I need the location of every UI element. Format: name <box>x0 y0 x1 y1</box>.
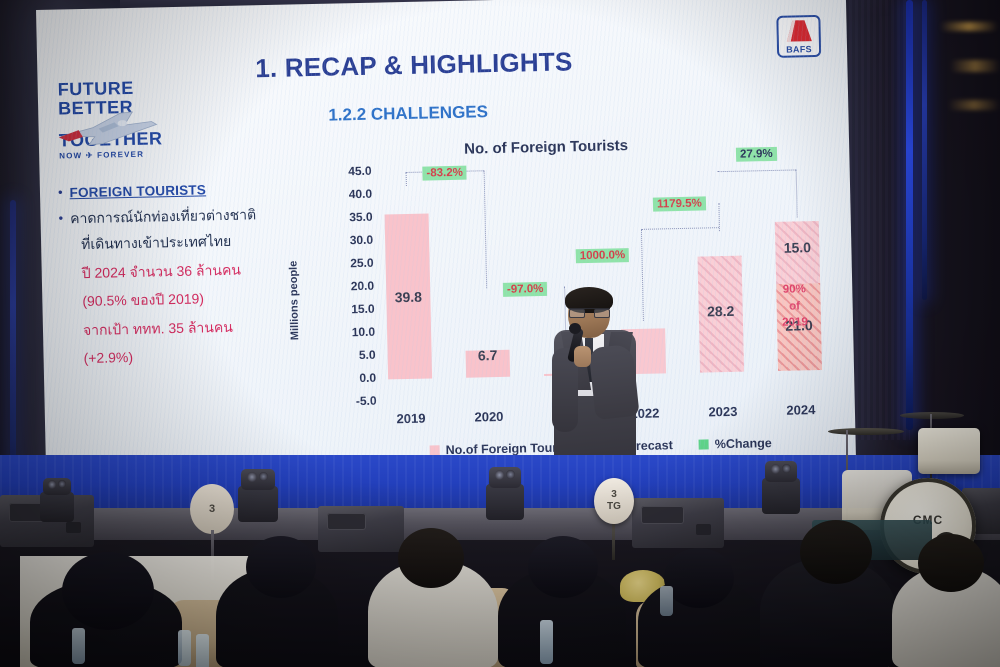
annotation-90-percent: 90% of 2019 <box>772 281 817 332</box>
projection-screen: FUTURE BETTER TOGETHER NOW ✈ FOREVER BAF… <box>36 0 856 478</box>
page-subtitle: 1.2.2 CHALLENGES <box>328 102 488 125</box>
legend-item-pct-change: %Change <box>699 436 772 452</box>
y-tick: 25.0 <box>350 256 374 271</box>
presenter-arm-right <box>588 344 639 420</box>
brand-lockup: FUTURE BETTER TOGETHER NOW ✈ FOREVER <box>58 79 180 154</box>
audience-member-head <box>800 520 872 584</box>
light-head <box>43 478 72 495</box>
presenter-hand <box>574 346 591 367</box>
light-lens-icon <box>771 464 781 474</box>
stage-number-sign: 3 TG <box>594 478 634 524</box>
page-title: 1. RECAP & HIGHLIGHTS <box>255 46 573 84</box>
stage-sign-number: 3 <box>611 489 617 502</box>
glasses-lens-right <box>594 309 610 318</box>
water-bottle <box>660 586 673 616</box>
bullet-heading: FOREIGN TOURISTS <box>69 182 206 200</box>
x-tick-2019: 2019 <box>396 411 425 427</box>
amber-light-glow <box>940 22 998 31</box>
light-head <box>489 467 521 487</box>
bar-group-2023: 28.2 2023 <box>696 186 745 394</box>
x-tick-2024: 2024 <box>786 402 815 418</box>
legend-label-pct-change: %Change <box>715 436 772 451</box>
connector-line <box>406 172 407 186</box>
light-lens-icon <box>48 480 57 489</box>
y-tick: 40.0 <box>349 187 373 202</box>
bullet-dot-icon: • <box>58 211 63 225</box>
x-tick-2023: 2023 <box>708 404 737 420</box>
red-line-2: (90.5% ของปี 2019) <box>82 289 312 309</box>
y-tick: 35.0 <box>349 210 373 225</box>
water-bottle <box>72 628 85 664</box>
chart-title: No. of Foreign Tourists <box>299 134 793 162</box>
light-head <box>765 461 797 481</box>
list-item: • คาดการณ์นักท่องเที่ยวต่างชาติ <box>58 206 310 227</box>
legend-swatch-icon <box>430 445 440 455</box>
audience-member-head <box>246 536 316 598</box>
bar-group-2019: 39.8 2019 <box>384 192 433 400</box>
stage-monitor-speaker <box>318 506 404 552</box>
bar-value-2020: 6.7 <box>478 347 498 363</box>
water-bottle <box>540 620 553 664</box>
light-lens-icon <box>259 472 268 481</box>
bullet-dot-icon: • <box>58 185 63 199</box>
red-line-1: ปี 2024 จำนวน 36 ล้านคน <box>82 261 312 281</box>
airplane-icon <box>52 104 161 150</box>
bafs-logo: BAFS <box>776 15 821 58</box>
amber-light-glow <box>950 60 1000 72</box>
bar-value-2024-upper: 15.0 <box>784 239 812 256</box>
y-tick: 30.0 <box>350 233 374 248</box>
stage-monitor-speaker <box>632 498 724 548</box>
audience-member-head <box>918 534 984 592</box>
moving-head-light <box>762 478 800 514</box>
y-tick: -5.0 <box>356 394 377 408</box>
bullet-thai-text: คาดการณ์นักท่องเที่ยวต่างชาติ <box>70 207 256 226</box>
blue-light-strip-secondary <box>922 0 927 300</box>
table-sign-number: 3 <box>209 503 215 515</box>
glasses-lens-left <box>569 309 585 318</box>
bar-value-2019: 39.8 <box>395 289 423 306</box>
speaker-grill <box>327 513 367 530</box>
speaker-grill <box>641 506 683 524</box>
rack-tom <box>918 428 980 474</box>
audience-member-head <box>398 528 464 588</box>
microphone-head-icon <box>569 323 581 334</box>
water-bottle <box>178 630 191 666</box>
speaker-port <box>66 522 81 533</box>
x-tick-2020: 2020 <box>474 409 503 425</box>
bullet-list: • FOREIGN TOURISTS • คาดการณ์นักท่องเที่… <box>58 180 314 380</box>
red-line-4: (+2.9%) <box>83 346 313 366</box>
glasses-icon <box>569 308 610 317</box>
y-tick: 0.0 <box>359 371 376 385</box>
sign-pole <box>612 520 615 560</box>
pct-change-badge-2023: 1179.5% <box>653 196 706 211</box>
y-tick: 15.0 <box>351 302 375 317</box>
legend-swatch-icon <box>699 439 709 449</box>
y-tick: 20.0 <box>351 279 375 294</box>
connector-line <box>718 169 796 172</box>
list-item: • FOREIGN TOURISTS <box>58 180 310 200</box>
annotation-line-1: 90% <box>772 281 816 299</box>
y-tick: 45.0 <box>348 164 372 179</box>
moving-head-light <box>238 486 278 522</box>
pct-change-badge-2020: -83.2% <box>422 166 467 181</box>
venue-photo: FUTURE BETTER TOGETHER NOW ✈ FOREVER BAF… <box>0 0 1000 667</box>
annotation-line-2: of <box>772 298 816 316</box>
brand-line-1: FUTURE <box>58 79 178 99</box>
amber-light-glow <box>948 100 1000 110</box>
cymbal <box>828 428 904 435</box>
audience-member-head <box>62 552 154 630</box>
light-lens-icon <box>506 470 514 479</box>
bar-value-2023: 28.2 <box>707 303 735 320</box>
moving-head-light <box>486 484 524 520</box>
light-lens-icon <box>495 470 505 480</box>
brand-tagline: NOW ✈ FOREVER <box>59 150 179 160</box>
blue-light-strip <box>906 0 913 430</box>
chart-y-axis-label: Millions people <box>288 261 302 341</box>
chart-y-axis: 45.0 40.0 35.0 30.0 25.0 20.0 15.0 10.0 … <box>334 171 381 402</box>
table-number-sign: 3 <box>190 484 234 534</box>
cymbal <box>900 412 964 419</box>
light-lens-icon <box>58 480 65 488</box>
y-tick: 5.0 <box>359 348 376 362</box>
bafs-logo-text: BAFS <box>779 44 819 55</box>
bullet-thai-subline: ที่เดินทางเข้าประเทศไทย <box>81 232 311 252</box>
light-lens-icon <box>782 464 790 473</box>
light-lens-icon <box>247 472 257 482</box>
speaker-port <box>696 524 711 535</box>
y-tick: 10.0 <box>352 325 376 340</box>
light-head <box>241 469 275 489</box>
stage-sign-code: TG <box>607 501 621 514</box>
pct-change-badge-2024: 27.9% <box>736 147 777 162</box>
moving-head-light <box>40 492 74 522</box>
audience-member-head <box>528 536 598 598</box>
pct-change-badge-2022: 1000.0% <box>576 248 630 263</box>
water-bottle <box>196 634 209 667</box>
red-line-3: จากเป้า ททท. 35 ล้านคน <box>83 318 313 338</box>
annotation-line-3: 2019 <box>773 314 817 332</box>
audience-member-head <box>664 548 734 608</box>
